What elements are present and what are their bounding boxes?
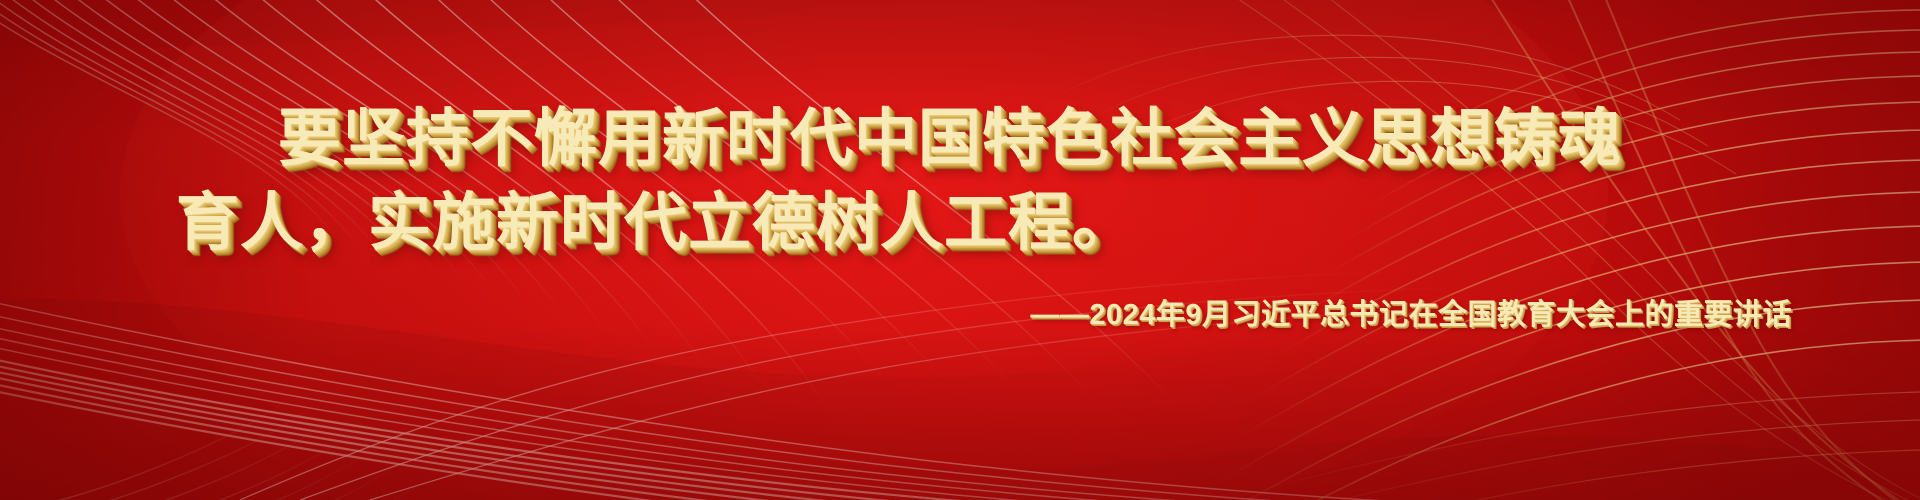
banner-content: 要坚持不懈用新时代中国特色社会主义思想铸魂 育人，实施新时代立德树人工程。 ——… bbox=[0, 0, 1920, 500]
quote-attribution: ——2024年9月习近平总书记在全国教育大会上的重要讲话 bbox=[1030, 291, 1792, 333]
slogan-banner: 要坚持不懈用新时代中国特色社会主义思想铸魂 育人，实施新时代立德树人工程。 ——… bbox=[0, 0, 1920, 500]
quote-line-2: 育人，实施新时代立德树人工程。 bbox=[176, 192, 1136, 255]
quote-line-1: 要坚持不懈用新时代中国特色社会主义思想铸魂 bbox=[278, 108, 1622, 171]
